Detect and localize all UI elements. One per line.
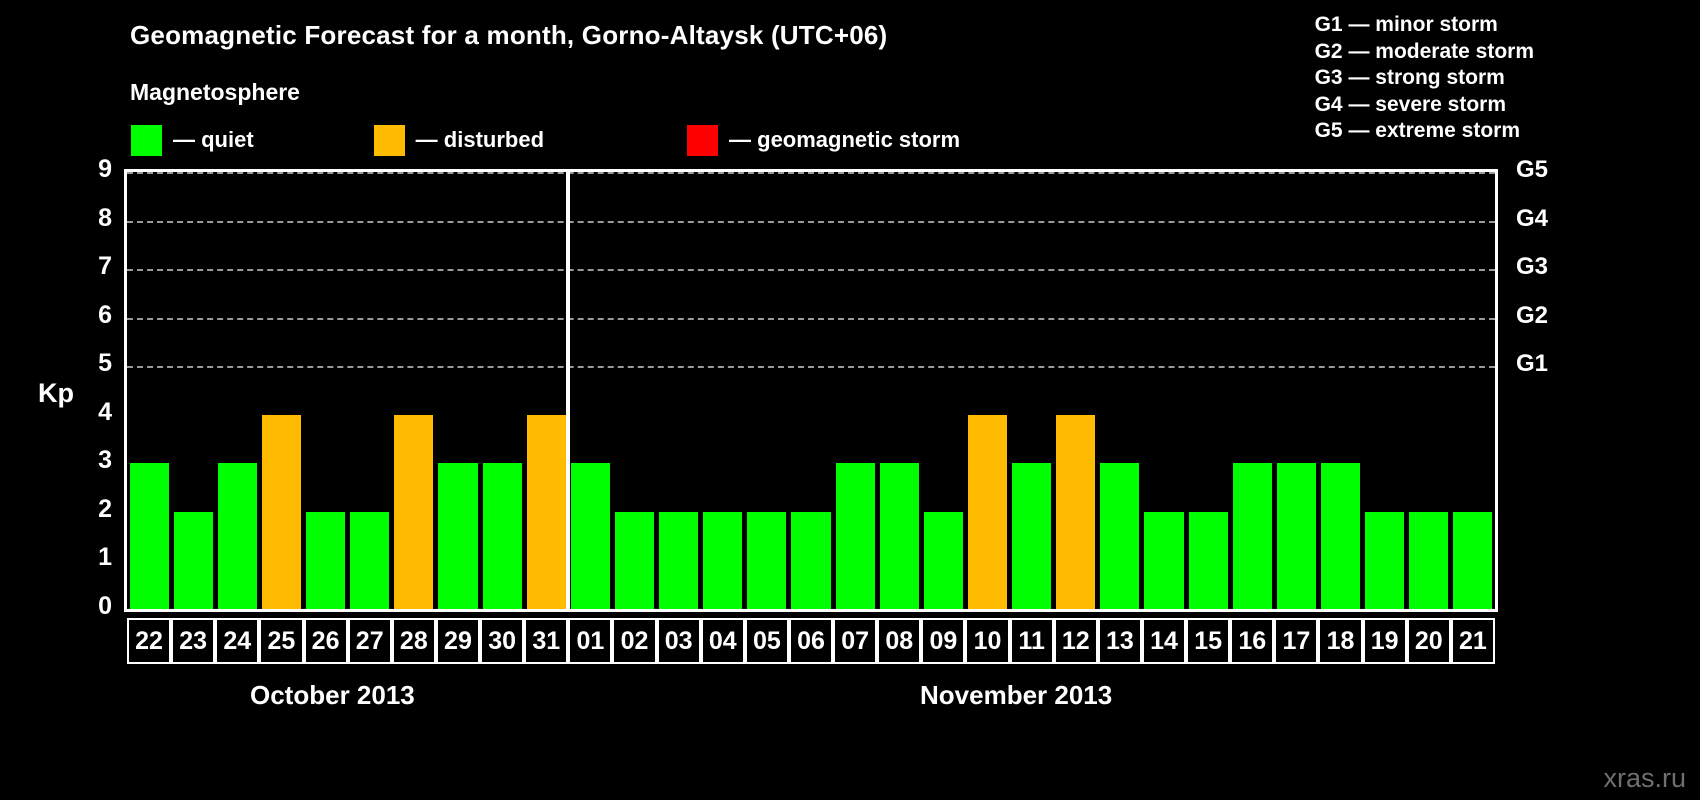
bar-31 (527, 415, 566, 609)
watermark: xras.ru (1603, 763, 1686, 794)
y-tick-label-4: 4 (72, 398, 112, 427)
bar-24 (218, 463, 257, 609)
g-axis-label-g4: G4 (1516, 205, 1548, 233)
date-cell-23: 23 (171, 618, 215, 664)
y-tick-label-0: 0 (72, 592, 112, 621)
bar-17 (1277, 463, 1316, 609)
bar-30 (483, 463, 522, 609)
date-cell-27: 27 (348, 618, 392, 664)
date-cell-28: 28 (392, 618, 436, 664)
date-cell-25: 25 (259, 618, 303, 664)
bar-11 (1012, 463, 1051, 609)
date-cell-17: 17 (1274, 618, 1318, 664)
gridline-kp-5 (127, 366, 1495, 368)
bar-09 (924, 512, 963, 609)
g-scale-row-g2: G2 — moderate storm (1315, 39, 1534, 66)
bar-01 (571, 463, 610, 609)
date-cell-24: 24 (215, 618, 259, 664)
g-scale-row-g1: G1 — minor storm (1315, 12, 1534, 39)
g-axis-label-g3: G3 (1516, 253, 1548, 281)
date-cell-29: 29 (436, 618, 480, 664)
gridline-kp-8 (127, 221, 1495, 223)
y-tick-label-3: 3 (72, 446, 112, 475)
bar-28 (394, 415, 433, 609)
bar-21 (1453, 512, 1492, 609)
date-cell-06: 06 (789, 618, 833, 664)
bar-26 (306, 512, 345, 609)
y-tick-label-2: 2 (72, 495, 112, 524)
date-cell-14: 14 (1142, 618, 1186, 664)
bar-20 (1409, 512, 1448, 609)
y-tick-label-1: 1 (72, 543, 112, 572)
legend-entry-storm: — geomagnetic storm (687, 123, 960, 157)
date-cell-15: 15 (1186, 618, 1230, 664)
bar-16 (1233, 463, 1272, 609)
bar-15 (1189, 512, 1228, 609)
date-cell-01: 01 (568, 618, 612, 664)
legend-label-storm: — geomagnetic storm (729, 127, 960, 153)
date-cell-08: 08 (877, 618, 921, 664)
y-tick-label-6: 6 (72, 301, 112, 330)
month-divider (566, 172, 570, 609)
gridline-kp-9 (127, 172, 1495, 174)
g-axis-label-g2: G2 (1516, 302, 1548, 330)
date-cell-21: 21 (1451, 618, 1495, 664)
y-tick-label-7: 7 (72, 252, 112, 281)
y-tick-label-5: 5 (72, 349, 112, 378)
legend-swatch-quiet (131, 125, 162, 156)
g-scale-row-g4: G4 — severe storm (1315, 92, 1534, 119)
bar-04 (703, 512, 742, 609)
magnetosphere-label: Magnetosphere (130, 79, 300, 106)
legend-entry-quiet: — quiet (131, 123, 254, 157)
legend-entry-disturbed: — disturbed (374, 123, 544, 157)
date-cell-09: 09 (921, 618, 965, 664)
bar-13 (1100, 463, 1139, 609)
bar-14 (1144, 512, 1183, 609)
bar-03 (659, 512, 698, 609)
y-tick-label-9: 9 (72, 155, 112, 184)
date-cell-07: 07 (833, 618, 877, 664)
g-scale-row-g5: G5 — extreme storm (1315, 118, 1534, 145)
bar-05 (747, 512, 786, 609)
date-cell-22: 22 (127, 618, 171, 664)
date-cell-30: 30 (480, 618, 524, 664)
legend-swatch-storm (687, 125, 718, 156)
plot-area (124, 169, 1498, 612)
legend-label-quiet: — quiet (173, 127, 254, 153)
bar-23 (174, 512, 213, 609)
gridline-kp-7 (127, 269, 1495, 271)
legend-label-disturbed: — disturbed (416, 127, 544, 153)
bar-22 (130, 463, 169, 609)
date-cell-12: 12 (1054, 618, 1098, 664)
bar-19 (1365, 512, 1404, 609)
bar-06 (791, 512, 830, 609)
y-tick-label-8: 8 (72, 204, 112, 233)
bar-07 (836, 463, 875, 609)
bar-10 (968, 415, 1007, 609)
bar-18 (1321, 463, 1360, 609)
bar-08 (880, 463, 919, 609)
legend-swatch-disturbed (374, 125, 405, 156)
date-cell-19: 19 (1363, 618, 1407, 664)
date-cell-18: 18 (1318, 618, 1362, 664)
color-legend: — quiet— disturbed— geomagnetic storm (131, 123, 960, 157)
date-cell-11: 11 (1010, 618, 1054, 664)
month-caption: November 2013 (920, 680, 1112, 711)
bar-02 (615, 512, 654, 609)
date-cell-13: 13 (1098, 618, 1142, 664)
date-cell-03: 03 (657, 618, 701, 664)
gridline-kp-6 (127, 318, 1495, 320)
bar-12 (1056, 415, 1095, 609)
date-cell-16: 16 (1230, 618, 1274, 664)
g-axis-label-g5: G5 (1516, 156, 1548, 184)
date-cell-31: 31 (524, 618, 568, 664)
bar-27 (350, 512, 389, 609)
date-cell-26: 26 (304, 618, 348, 664)
date-cell-05: 05 (745, 618, 789, 664)
date-cell-04: 04 (701, 618, 745, 664)
date-cell-20: 20 (1407, 618, 1451, 664)
date-axis: 2223242526272829303101020304050607080910… (124, 618, 1498, 664)
bar-29 (438, 463, 477, 609)
g-scale-row-g3: G3 — strong storm (1315, 65, 1534, 92)
month-caption: October 2013 (250, 680, 415, 711)
page-title: Geomagnetic Forecast for a month, Gorno-… (130, 20, 887, 51)
date-cell-02: 02 (612, 618, 656, 664)
date-cell-10: 10 (965, 618, 1009, 664)
g-axis-label-g1: G1 (1516, 350, 1548, 378)
y-axis-title: Kp (38, 378, 74, 409)
g-scale-legend: G1 — minor stormG2 — moderate stormG3 — … (1315, 12, 1534, 145)
plot-inner (127, 172, 1495, 609)
bar-25 (262, 415, 301, 609)
